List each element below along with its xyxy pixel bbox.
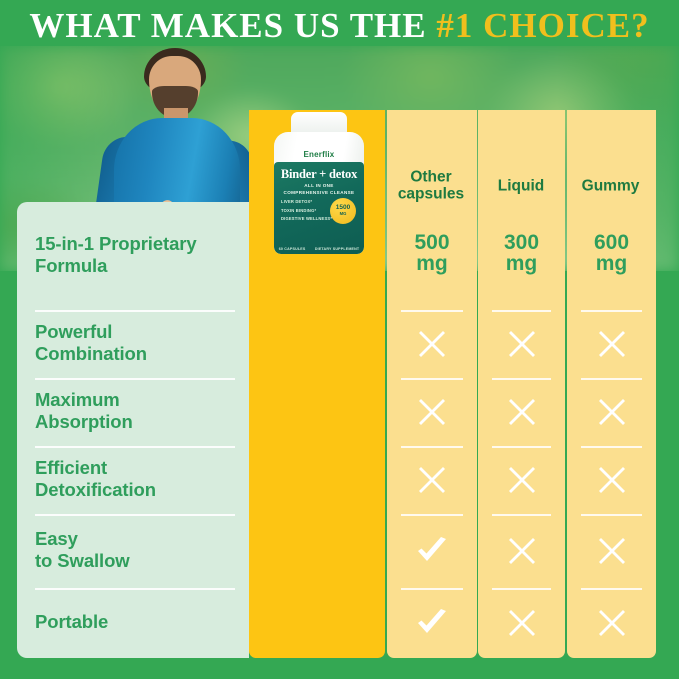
potency-badge: 1500 MG: [330, 198, 356, 224]
row-divider: [581, 310, 642, 312]
row-divider: [35, 446, 235, 448]
feature-line-2: Formula: [35, 255, 245, 277]
cross-icon: [387, 395, 477, 429]
feature-line-2: Combination: [35, 343, 245, 365]
comparison-table: 15-in-1 ProprietaryFormula3000mg500mg300…: [17, 202, 662, 658]
feature-label-0: 15-in-1 ProprietaryFormula: [35, 233, 245, 277]
cross-icon: [567, 395, 656, 429]
product-bullet-2: TOXIN BINDING*: [281, 207, 332, 216]
cross-icon: [478, 606, 565, 640]
feature-label-2: MaximumAbsorption: [35, 389, 245, 433]
cross-icon: [387, 463, 477, 497]
product-subtitle-line2: COMPREHENSIVE CLEANSE: [274, 190, 364, 197]
check-icon: [387, 534, 477, 568]
cross-icon: [567, 463, 656, 497]
feature-label-4: Easyto Swallow: [35, 528, 245, 572]
cross-icon: [567, 534, 656, 568]
dose-unit: mg: [387, 253, 477, 274]
dose-value-liquid: 300mg: [478, 232, 565, 275]
row-divider: [492, 378, 551, 380]
dose-number: 500: [387, 232, 477, 253]
badge-unit: MG: [340, 212, 347, 216]
dose-unit: mg: [478, 253, 565, 274]
product-bullet-1: LIVER DETOX*: [281, 198, 332, 207]
feature-line-1: Easy: [35, 528, 245, 550]
cross-icon: [567, 327, 656, 361]
product-subtitle: ALL IN ONE COMPREHENSIVE CLEANSE: [274, 183, 364, 196]
dose-unit: mg: [567, 253, 656, 274]
cross-icon: [567, 606, 656, 640]
cross-icon: [387, 327, 477, 361]
dose-value-caps: 500mg: [387, 232, 477, 275]
row-divider: [35, 310, 235, 312]
feature-line-1: Powerful: [35, 321, 245, 343]
cross-icon: [478, 463, 565, 497]
title-gold-part: #1 CHOICE?: [436, 6, 649, 45]
row-divider: [401, 514, 463, 516]
column-header-caps: Other capsules: [390, 168, 472, 203]
row-divider: [401, 310, 463, 312]
feature-line-1: Portable: [35, 611, 245, 633]
cross-icon: [478, 395, 565, 429]
product-title: Binder + detox: [274, 167, 364, 182]
row-divider: [581, 446, 642, 448]
product-subtitle-line1: ALL IN ONE: [274, 183, 364, 190]
row-divider: [401, 588, 463, 590]
product-label: Binder + detox ALL IN ONE COMPREHENSIVE …: [274, 162, 364, 254]
row-divider: [581, 378, 642, 380]
product-bullets: LIVER DETOX* TOXIN BINDING* DIGESTIVE WE…: [281, 198, 332, 224]
dose-value-gummy: 600mg: [567, 232, 656, 275]
cross-icon: [478, 327, 565, 361]
row-divider: [35, 378, 235, 380]
product-count: 60 CAPSULES: [279, 247, 306, 251]
product-category: DIETARY SUPPLEMENT: [315, 247, 359, 251]
row-divider: [581, 588, 642, 590]
page-title: WHAT MAKES US THE #1 CHOICE?: [0, 6, 679, 46]
feature-line-2: Detoxification: [35, 479, 245, 501]
row-divider: [401, 446, 463, 448]
row-divider: [35, 588, 235, 590]
hero-bottle-body: Enerflix Binder + detox ALL IN ONE COMPR…: [274, 132, 364, 254]
feature-label-1: PowerfulCombination: [35, 321, 245, 365]
hero-product-bottle: Enerflix Binder + detox ALL IN ONE COMPR…: [274, 112, 364, 254]
cross-icon: [478, 534, 565, 568]
row-divider: [492, 588, 551, 590]
feature-line-2: Absorption: [35, 411, 245, 433]
title-white-part: WHAT MAKES US THE: [29, 6, 426, 45]
feature-line-1: Maximum: [35, 389, 245, 411]
product-footer: 60 CAPSULES DIETARY SUPPLEMENT: [274, 247, 364, 251]
product-brand: Enerflix: [274, 150, 364, 159]
row-divider: [492, 514, 551, 516]
comparison-infographic: WHAT MAKES US THE #1 CHOICE? Other capsu…: [0, 0, 679, 679]
row-divider: [492, 446, 551, 448]
check-icon: [387, 606, 477, 640]
row-divider: [581, 514, 642, 516]
feature-label-5: Portable: [35, 611, 245, 633]
feature-label-3: EfficientDetoxification: [35, 457, 245, 501]
feature-line-2: to Swallow: [35, 550, 245, 572]
row-divider: [492, 310, 551, 312]
product-bullet-3: DIGESTIVE WELLNESS*: [281, 215, 332, 224]
row-divider: [401, 378, 463, 380]
feature-line-1: 15-in-1 Proprietary: [35, 233, 245, 255]
dose-number: 300: [478, 232, 565, 253]
feature-line-1: Efficient: [35, 457, 245, 479]
column-header-gummy: Gummy: [570, 177, 651, 194]
row-divider: [35, 514, 235, 516]
dose-number: 600: [567, 232, 656, 253]
column-header-liquid: Liquid: [481, 177, 561, 194]
